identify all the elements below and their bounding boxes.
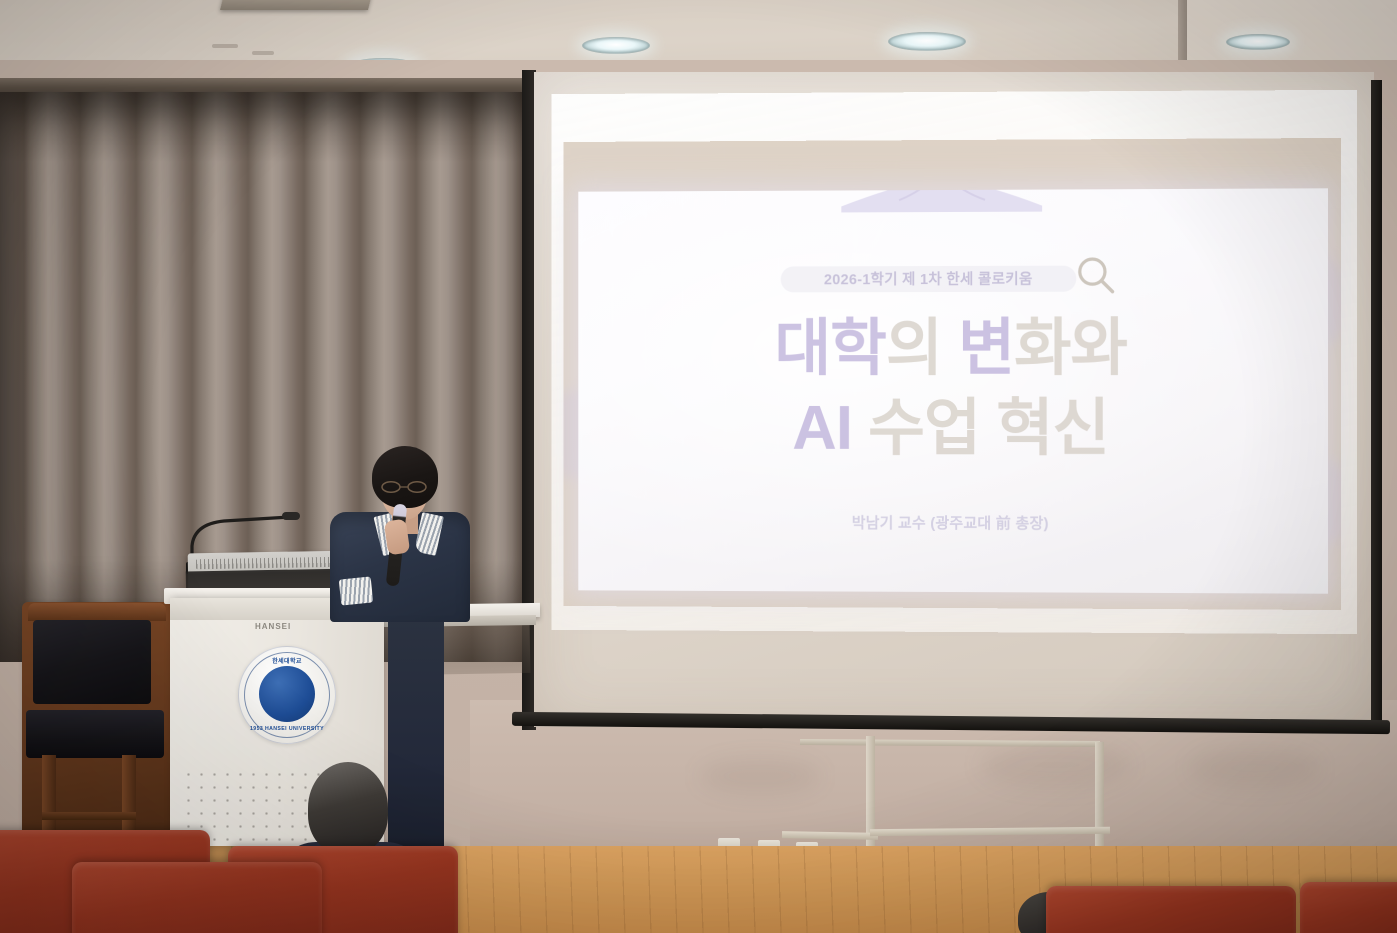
title-char-4: 변 bbox=[958, 314, 1014, 383]
speaker-hand bbox=[384, 519, 411, 556]
title-char-6: 신 bbox=[1052, 394, 1108, 463]
emblem-top-text: 한세대학교 bbox=[239, 656, 335, 665]
lecture-hall-photo: 2026-1학기 제 1차 한세 콜로키움 대학의 변화와 AI 수업 혁신 박… bbox=[0, 0, 1397, 933]
title-char-3: 업 bbox=[924, 394, 980, 463]
eyeglasses-icon bbox=[380, 481, 428, 493]
speaker-lower-body bbox=[388, 618, 444, 858]
title-char-4 bbox=[980, 394, 996, 463]
auditorium-seat-4 bbox=[1046, 886, 1296, 933]
wall-smudge-1 bbox=[980, 742, 1130, 788]
slide-badge-text: 2026-1학기 제 1차 한세 콜로키움 bbox=[781, 268, 1077, 290]
title-char-2: 의 bbox=[886, 314, 942, 383]
title-char-2: 수 bbox=[868, 394, 924, 463]
emblem-bottom-text: 1953 HANSEI UNIVERSITY bbox=[239, 726, 335, 732]
slide-title-line-1: 대학의 변화와 bbox=[578, 317, 1328, 380]
wooden-armchair-leg-right bbox=[122, 755, 136, 841]
ceiling-vent-2 bbox=[252, 51, 274, 55]
wall-smudge-3 bbox=[700, 758, 820, 794]
emblem-globe bbox=[259, 666, 315, 722]
search-icon bbox=[1073, 253, 1119, 299]
ceiling-access-panel bbox=[220, 0, 372, 10]
auditorium-seat-5 bbox=[1300, 882, 1397, 933]
curtain-left-shadow bbox=[0, 92, 30, 662]
ceiling-downlight-2 bbox=[582, 37, 650, 54]
slide-title-line-2: AI 수업 혁신 bbox=[578, 398, 1328, 461]
wooden-armchair-back-cushion bbox=[33, 620, 151, 704]
ceiling-vent-1 bbox=[212, 44, 238, 48]
speaker-hair bbox=[372, 446, 438, 508]
podium-brand-label: HANSEI bbox=[255, 622, 291, 631]
ceiling-downlight-4 bbox=[1226, 34, 1290, 50]
title-char-3 bbox=[942, 314, 958, 383]
title-char-1 bbox=[852, 394, 868, 463]
title-char-6: 와 bbox=[1070, 314, 1126, 383]
podium-monitor-vents bbox=[196, 557, 344, 570]
screen-frame-right bbox=[1371, 80, 1382, 730]
wooden-armchair-stretcher bbox=[42, 812, 136, 820]
audience-member-head bbox=[308, 762, 388, 854]
title-char-0: 대 bbox=[775, 314, 831, 383]
title-char-1: 학 bbox=[830, 314, 886, 383]
title-slide: 2026-1학기 제 1차 한세 콜로키움 대학의 변화와 AI 수업 혁신 박… bbox=[578, 188, 1328, 593]
auditorium-seat-2 bbox=[72, 862, 322, 933]
wooden-armchair-leg-left bbox=[42, 755, 56, 841]
title-char-5: 화 bbox=[1014, 314, 1070, 383]
hansei-university-emblem: 한세대학교 1953 HANSEI UNIVERSITY bbox=[238, 646, 336, 744]
speaker-shirt-cuff bbox=[339, 576, 374, 605]
wooden-armchair-crest-rail bbox=[28, 603, 166, 621]
hanger-clip-icon bbox=[839, 188, 1044, 212]
ceiling-downlight-3 bbox=[888, 32, 966, 51]
slide-presenter-text: 박남기 교수 (광주교대 前 총장) bbox=[578, 511, 1328, 534]
title-char-5: 혁 bbox=[996, 394, 1052, 463]
wall-smudge-2 bbox=[1190, 748, 1320, 788]
title-char-0: AI bbox=[792, 394, 852, 463]
wooden-armchair-seat-cushion bbox=[26, 710, 164, 758]
